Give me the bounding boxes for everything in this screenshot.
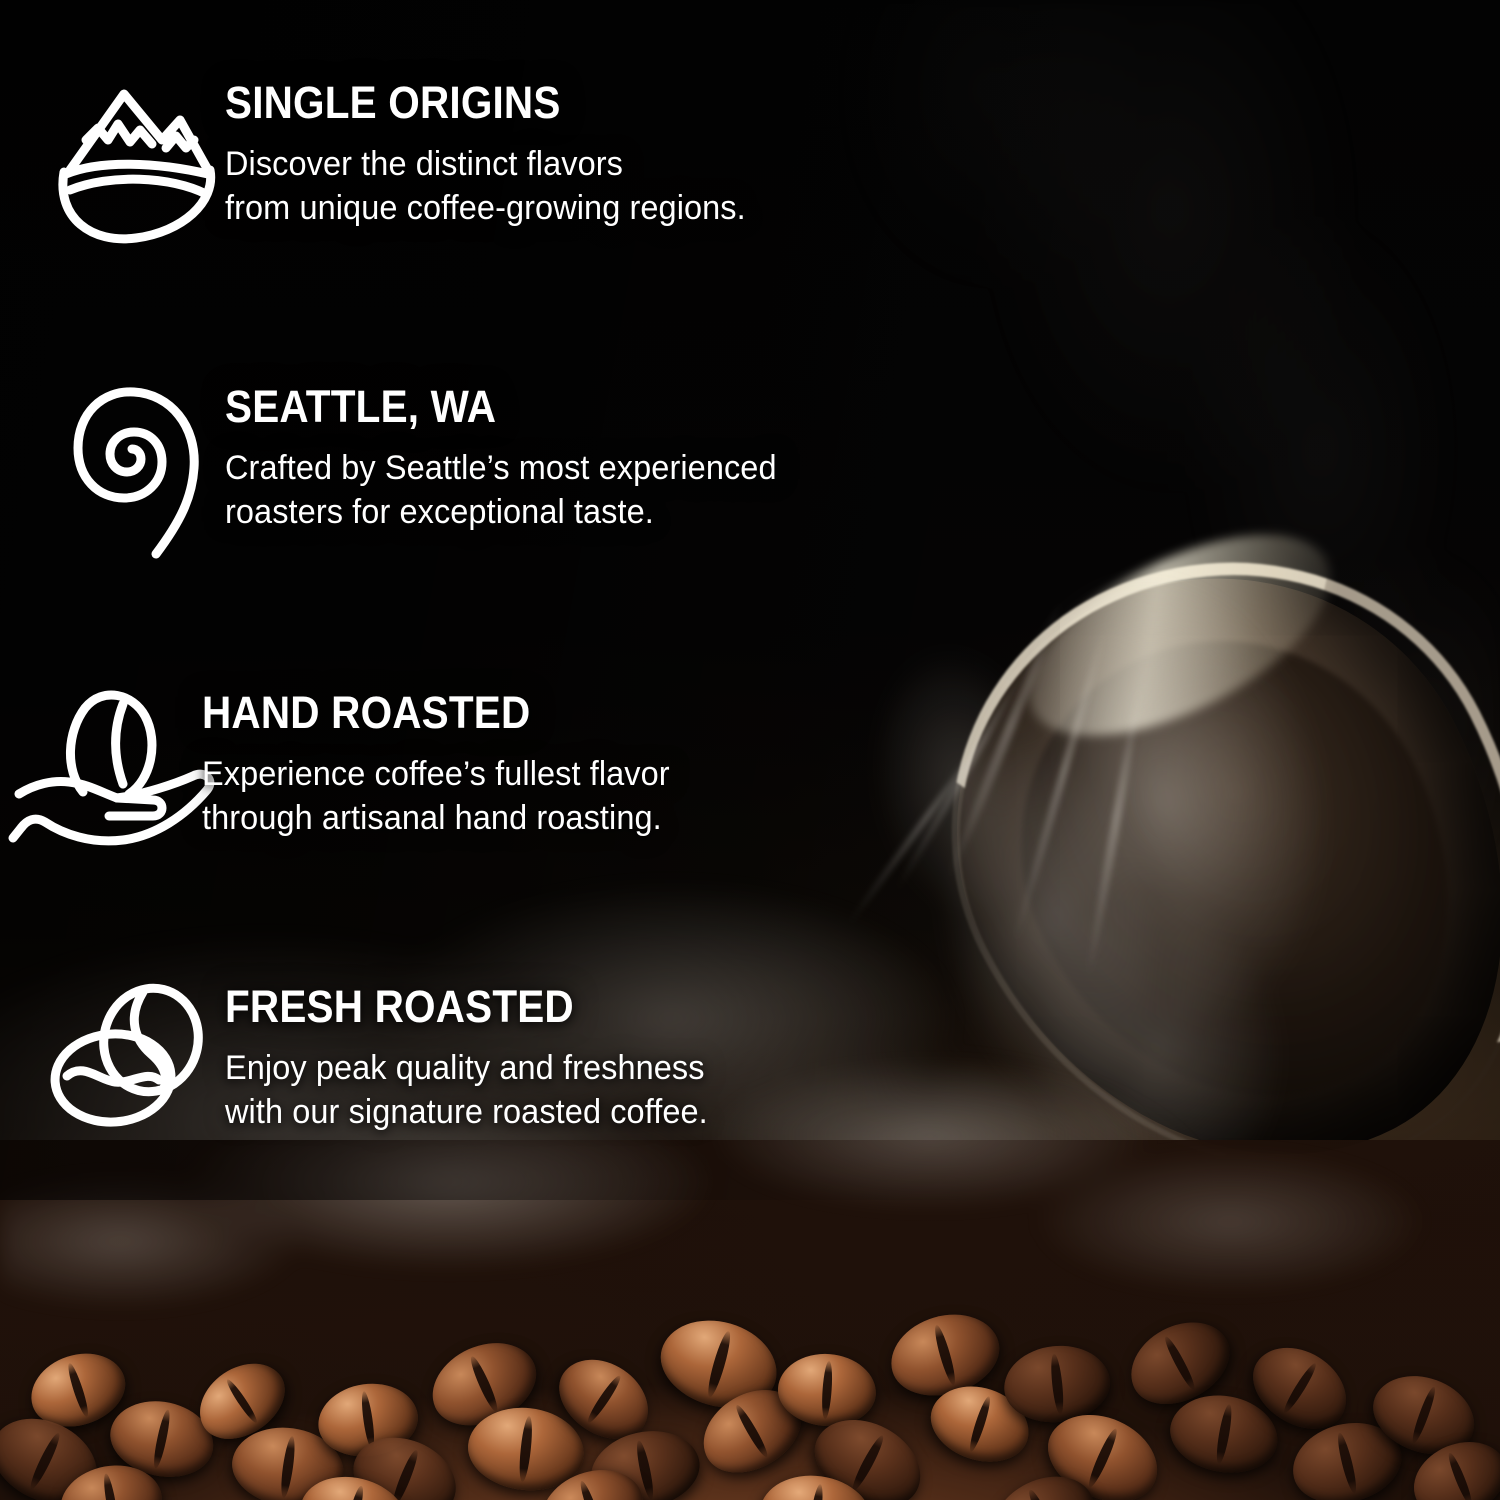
- feature-item-hand-roasted: HAND ROASTED Experience coffee’s fullest…: [22, 688, 1052, 848]
- feature-description-line: Experience coffee’s fullest flavor: [202, 752, 1014, 796]
- feature-description-line: from unique coffee-growing regions.: [225, 186, 1018, 230]
- feature-title: SEATTLE, WA: [225, 384, 990, 430]
- feature-text: FRESH ROASTED Enjoy peak quality and fre…: [225, 982, 1065, 1134]
- feature-item-seattle-wa: SEATTLE, WA Crafted by Seattle’s most ex…: [45, 382, 1075, 562]
- feature-description-line: Crafted by Seattle’s most experienced: [225, 446, 1037, 490]
- feature-description-line: with our signature roasted coffee.: [225, 1090, 1027, 1134]
- feature-text: SEATTLE, WA Crafted by Seattle’s most ex…: [225, 382, 1075, 534]
- feature-description: Enjoy peak quality and freshness with ou…: [225, 1046, 1027, 1134]
- feature-title: HAND ROASTED: [202, 690, 967, 736]
- feature-description: Crafted by Seattle’s most experienced ro…: [225, 446, 1037, 534]
- feature-description-line: Discover the distinct flavors: [225, 142, 1018, 186]
- feature-text: HAND ROASTED Experience coffee’s fullest…: [202, 688, 1052, 840]
- mountain-bean-icon: [45, 78, 225, 243]
- hand-holding-bean-icon: [22, 688, 202, 848]
- feature-description: Experience coffee’s fullest flavor throu…: [202, 752, 1014, 840]
- feature-description-line: roasters for exceptional taste.: [225, 490, 1037, 534]
- feature-item-single-origins: SINGLE ORIGINS Discover the distinct fla…: [45, 78, 1055, 243]
- feature-title: SINGLE ORIGINS: [225, 80, 972, 126]
- feature-item-fresh-roasted: FRESH ROASTED Enjoy peak quality and fre…: [45, 982, 1065, 1134]
- coffee-feature-banner: SINGLE ORIGINS Discover the distinct fla…: [0, 0, 1500, 1500]
- feature-description-line: through artisanal hand roasting.: [202, 796, 1014, 840]
- feature-description: Discover the distinct flavors from uniqu…: [225, 142, 1018, 230]
- feature-title: FRESH ROASTED: [225, 984, 981, 1030]
- feature-list: SINGLE ORIGINS Discover the distinct fla…: [0, 0, 1500, 1500]
- feature-text: SINGLE ORIGINS Discover the distinct fla…: [225, 78, 1055, 230]
- fingerprint-icon: [45, 382, 225, 562]
- two-coffee-beans-icon: [45, 982, 225, 1132]
- feature-description-line: Enjoy peak quality and freshness: [225, 1046, 1027, 1090]
